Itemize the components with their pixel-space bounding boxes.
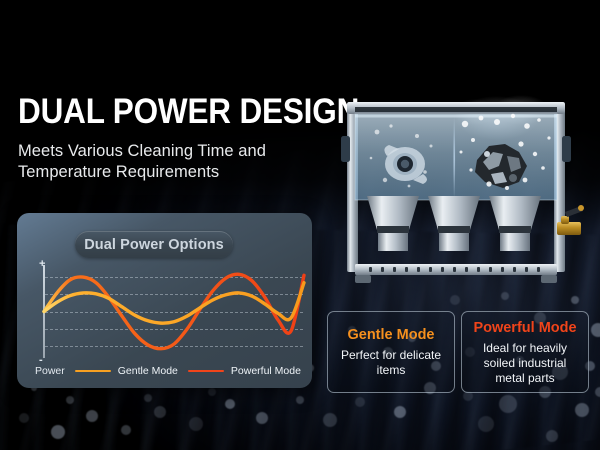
mode-card-powerful[interactable]: Powerful Mode Ideal for heavily soiled i…	[461, 311, 589, 393]
bokeh-dot	[154, 406, 166, 418]
marketing-banner: DUAL POWER DESIGN Meets Various Cleaning…	[0, 0, 600, 450]
mode-cards-row: Gentle Mode Perfect for delicate items P…	[327, 311, 589, 393]
dual-power-chart-panel: Dual Power Options + -	[17, 213, 312, 388]
bokeh-dot	[66, 396, 74, 404]
ultrasonic-cleaner-illustration	[325, 88, 587, 293]
bokeh-dot	[575, 403, 589, 417]
mode-card-gentle[interactable]: Gentle Mode Perfect for delicate items	[327, 311, 455, 393]
chart-legend: Power Gentle Mode Powerful Mode	[35, 365, 305, 377]
legend-entry-powerful: Powerful Mode	[188, 365, 301, 377]
legend-label-powerful: Powerful Mode	[231, 365, 301, 377]
headline-block: DUAL POWER DESIGN Meets Various Cleaning…	[18, 92, 348, 183]
bokeh-dot	[501, 292, 509, 300]
bokeh-dot	[323, 413, 337, 427]
bokeh-dot	[499, 395, 517, 413]
bokeh-dot	[355, 397, 365, 407]
product-photo-ultrasonic-cleaner	[325, 88, 587, 293]
legend-label-gentle: Gentle Mode	[118, 365, 178, 377]
bokeh-dot	[19, 413, 29, 423]
bokeh-dot	[478, 416, 494, 432]
bokeh-dot	[86, 410, 98, 422]
page-title: DUAL POWER DESIGN	[18, 92, 315, 132]
mode-card-gentle-description: Perfect for delicate items	[334, 348, 448, 378]
powerful-mode-curve	[44, 274, 304, 348]
bokeh-dot	[144, 394, 152, 402]
chart-waveforms	[17, 213, 312, 388]
transducer-group	[367, 196, 541, 251]
mode-card-powerful-title: Powerful Mode	[473, 319, 576, 338]
bokeh-dot	[121, 425, 131, 435]
bokeh-dot	[296, 396, 304, 404]
bokeh-dot	[189, 417, 203, 431]
mode-card-gentle-title: Gentle Mode	[347, 326, 434, 345]
gentle-mode-curve	[44, 283, 304, 323]
bokeh-dot	[450, 295, 460, 305]
bokeh-dot	[595, 387, 600, 397]
legend-swatch-gentle-icon	[75, 370, 111, 373]
bokeh-dot	[571, 296, 579, 304]
bokeh-dot	[591, 323, 600, 337]
bokeh-dot	[256, 412, 268, 424]
vent-slots	[369, 267, 540, 272]
bokeh-dot	[51, 425, 65, 439]
bokeh-dot	[394, 406, 406, 418]
legend-swatch-powerful-icon	[188, 370, 224, 373]
bokeh-dot	[225, 399, 235, 409]
bokeh-dot	[208, 388, 216, 396]
mode-card-powerful-description: Ideal for heavily soiled industrial meta…	[468, 341, 582, 386]
bokeh-dot	[546, 430, 558, 442]
legend-axis-label: Power	[35, 365, 65, 377]
legend-entry-gentle: Gentle Mode	[75, 365, 178, 377]
page-subtitle: Meets Various Cleaning Time and Temperat…	[18, 141, 318, 183]
